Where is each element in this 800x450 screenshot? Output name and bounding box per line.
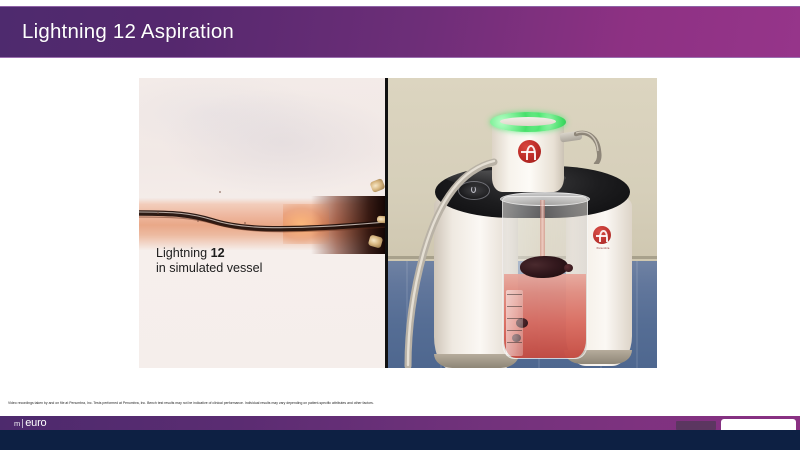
vessel-marker <box>219 191 221 193</box>
tubing-path-svg <box>398 156 518 368</box>
aspirated-clot-mass <box>520 256 568 278</box>
catheter-hub-fitting <box>377 216 388 224</box>
screenshot-root: Lightning 12 Aspiration <box>0 0 800 450</box>
tubing-connector-right <box>574 118 604 164</box>
caption-product-number: 12 <box>211 246 225 260</box>
caption-line-2: in simulated vessel <box>156 261 262 276</box>
lightning-12-simulated-vessel-image: Lightning 12 in simulated vessel <box>139 78 388 368</box>
caption-product-name: Lightning <box>156 246 211 260</box>
penumbra-logo-icon <box>593 226 611 244</box>
brand-logo-divider <box>22 419 23 428</box>
player-control-placeholder[interactable] <box>676 421 716 430</box>
left-photo-caption: Lightning 12 in simulated vessel <box>156 246 262 276</box>
clot-fragment <box>564 264 573 272</box>
penumbra-logo-icon <box>518 140 541 163</box>
vessel-marker <box>244 222 246 224</box>
drape-fold <box>636 261 638 368</box>
slide-title: Lightning 12 Aspiration <box>0 20 234 44</box>
vessel-marker <box>157 212 159 214</box>
viewer-bottom-bar <box>0 430 800 450</box>
lightning-12-catheter <box>139 208 385 234</box>
brand-logo: m euro <box>14 417 46 429</box>
slide-title-bar: Lightning 12 Aspiration <box>0 6 800 58</box>
right-tubing-path-svg <box>574 118 604 164</box>
brand-logo-mark: m <box>14 418 20 429</box>
slide-image-pair: Lightning 12 in simulated vessel <box>139 78 660 368</box>
canister-lid-top <box>500 117 556 126</box>
aspiration-tubing <box>398 156 518 368</box>
vessel-marker <box>197 220 199 222</box>
caption-line-1: Lightning 12 <box>156 246 262 261</box>
brand-logo-word: euro <box>25 417 46 429</box>
presentation-slide: Lightning 12 Aspiration <box>0 0 800 416</box>
penumbra-logo-wordmark: Penumbra <box>586 247 620 250</box>
catheter-path-svg <box>139 208 385 234</box>
disclaimer-text: Video recordings taken by and on file at… <box>8 401 788 406</box>
penumbra-aspiration-pump-image: Penumbra <box>388 78 657 368</box>
